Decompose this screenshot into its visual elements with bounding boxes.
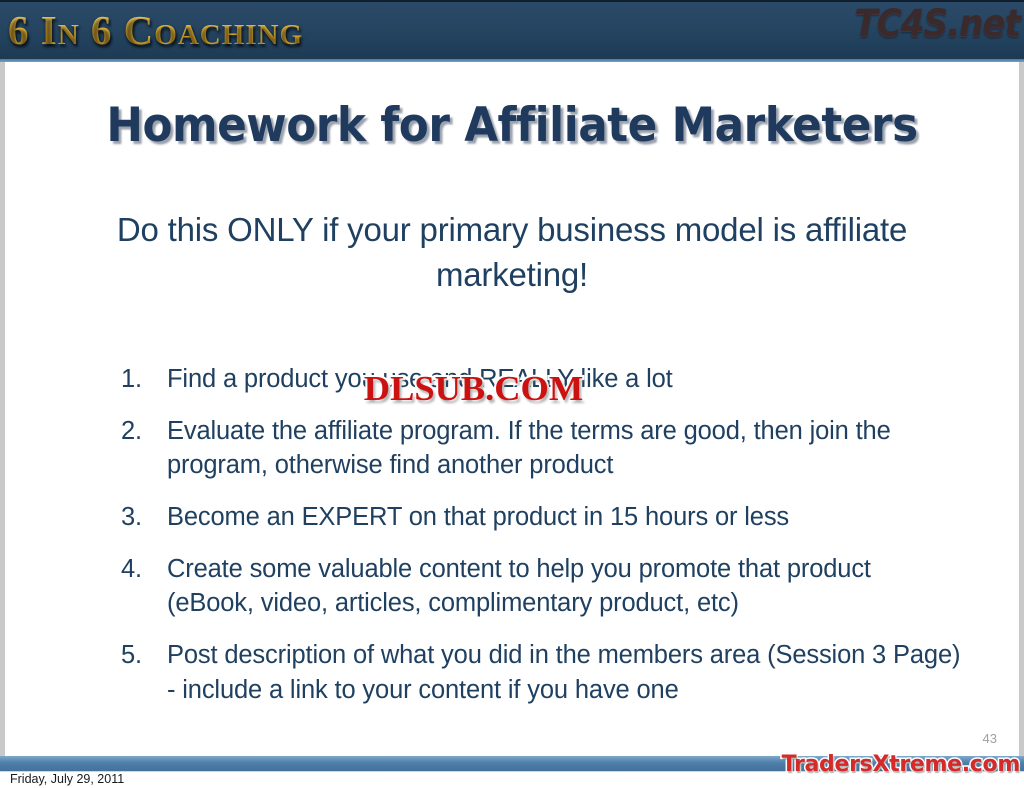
footer-logo: TradersXtreme.com <box>782 752 1020 777</box>
page-title: Homework for Affiliate Marketers <box>40 98 983 153</box>
list-item: 3. Become an EXPERT on that product in 1… <box>115 500 961 535</box>
list-item-text: Become an EXPERT on that product in 15 h… <box>167 503 789 531</box>
header-band: 6 In 6 Coaching 6 In 6 Coaching TC4S.net <box>0 0 1024 62</box>
list-item-number: 1. <box>121 362 153 397</box>
slide-subtitle: Do this ONLY if your primary business mo… <box>105 208 919 298</box>
watermark-overlay: DLSUB.COM <box>364 369 583 409</box>
list-item-number: 4. <box>121 552 153 587</box>
footer-date: Friday, July 29, 2011 <box>10 772 124 786</box>
list-item: 5. Post description of what you did in t… <box>115 638 961 707</box>
presentation-slide: 6 In 6 Coaching 6 In 6 Coaching TC4S.net… <box>0 0 1024 788</box>
list-item-text: Post description of what you did in the … <box>167 641 960 704</box>
list-item-text: Evaluate the affiliate program. If the t… <box>167 417 891 480</box>
site-logo: TC4S.net <box>854 2 1020 45</box>
page-number: 43 <box>983 731 997 746</box>
numbered-list: 1. Find a product you use and REALLY lik… <box>115 362 961 724</box>
list-item: 4. Create some valuable content to help … <box>115 552 961 621</box>
list-item-number: 2. <box>121 414 153 449</box>
list-item-number: 3. <box>121 500 153 535</box>
slide-body: Homework for Affiliate Marketers Do this… <box>0 62 1024 756</box>
list-item-number: 5. <box>121 638 153 673</box>
brand-title: 6 In 6 Coaching <box>8 5 303 56</box>
list-item: 2. Evaluate the affiliate program. If th… <box>115 414 961 483</box>
list-item-text: Create some valuable content to help you… <box>167 555 871 618</box>
